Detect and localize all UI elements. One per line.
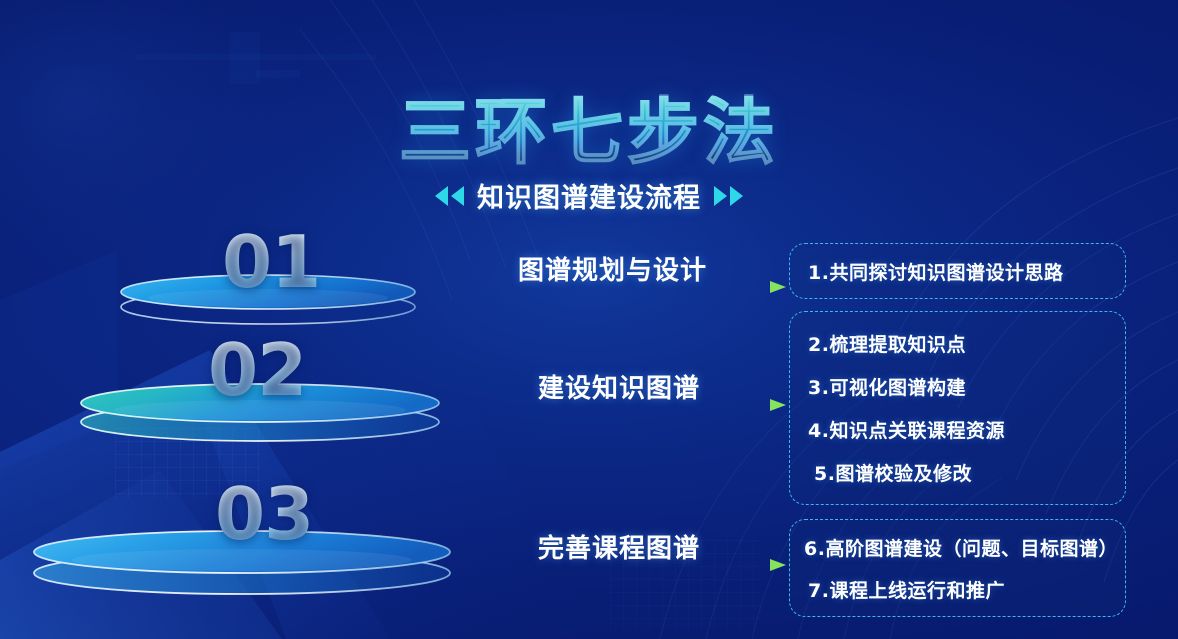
detail-item: 1.共同探讨知识图谱设计思路 <box>808 258 1063 285</box>
dashed-arrow-right-icon-01 <box>484 279 788 295</box>
step-disc-02: 02 <box>78 372 442 450</box>
slide-canvas: 三环七步法 知识图谱建设流程 <box>0 0 1178 639</box>
detail-item: 3.可视化图谱构建 <box>808 373 1125 400</box>
step-number-02: 02 <box>208 328 306 412</box>
dashed-arrow-right-icon-02 <box>484 397 788 413</box>
detail-item: 2.梳理提取知识点 <box>808 330 1125 357</box>
step-disc-01: 01 <box>118 262 418 334</box>
step-detail-box-02[interactable]: 2.梳理提取知识点 3.可视化图谱构建 4.知识点关联课程资源 5.图谱校验及修… <box>789 311 1126 505</box>
step-detail-box-01[interactable]: 1.共同探讨知识图谱设计思路 <box>789 243 1126 299</box>
detail-item: 5.图谱校验及修改 <box>814 459 1125 486</box>
page-subtitle: 知识图谱建设流程 <box>477 176 701 215</box>
step-number-03: 03 <box>215 472 313 556</box>
detail-item: 4.知识点关联课程资源 <box>808 416 1125 443</box>
step-number-01: 01 <box>222 220 320 304</box>
step-detail-box-03[interactable]: 6.高阶图谱建设（问题、目标图谱） 7.课程上线运行和推广 <box>789 519 1126 617</box>
detail-item: 6.高阶图谱建设（问题、目标图谱） <box>804 534 1125 561</box>
double-chevron-right-icon <box>711 185 745 207</box>
subtitle-row: 知识图谱建设流程 <box>0 176 1178 215</box>
detail-item: 7.课程上线运行和推广 <box>808 576 1125 603</box>
step-disc-03: 03 <box>30 518 454 604</box>
dashed-arrow-right-icon-03 <box>484 557 788 573</box>
double-chevron-left-icon <box>433 185 467 207</box>
